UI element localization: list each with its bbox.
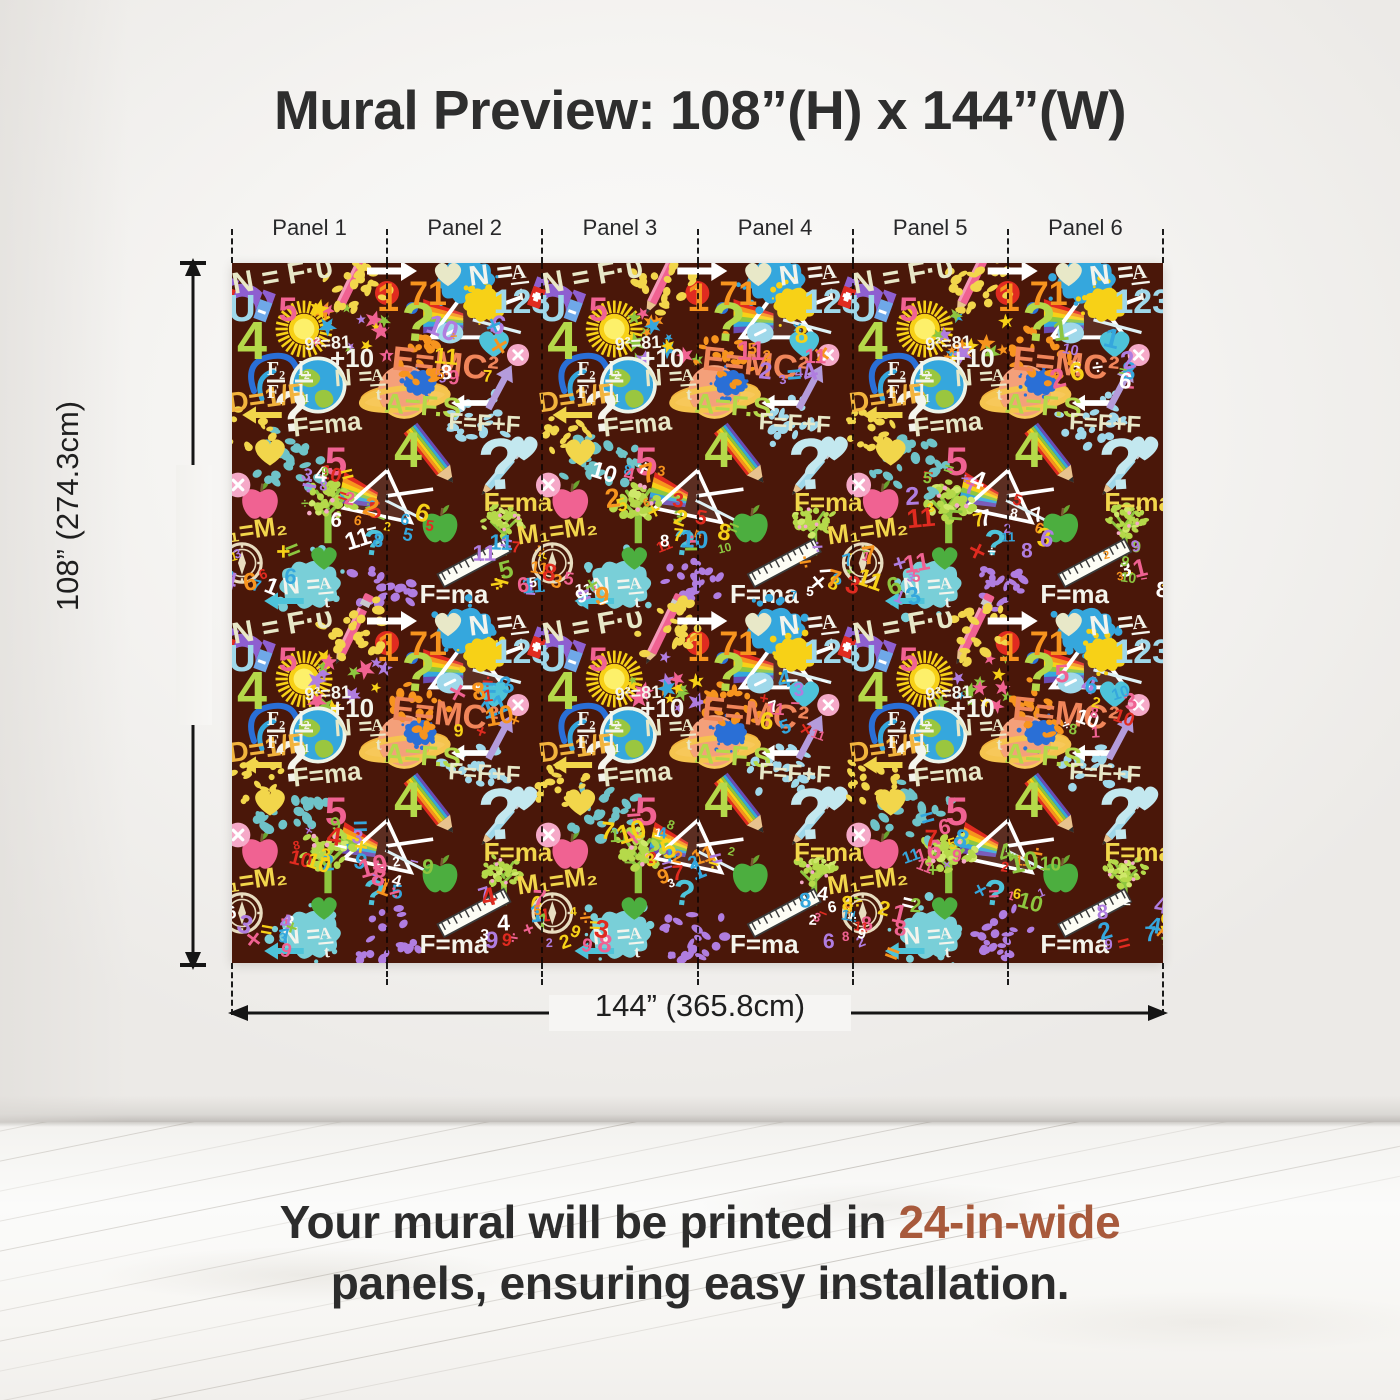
svg-text:7: 7 — [790, 590, 797, 602]
svg-text:F₂: F₂ — [267, 708, 285, 730]
svg-text:123: 123 — [1114, 283, 1163, 321]
panel-seam-3 — [697, 263, 699, 963]
svg-text:F₁: F₁ — [577, 381, 595, 403]
svg-text:8: 8 — [1021, 539, 1033, 562]
svg-text:F=ma: F=ma — [1104, 837, 1163, 867]
svg-text:11: 11 — [804, 345, 826, 369]
badge-pink — [846, 823, 871, 848]
svg-text:A: A — [1131, 611, 1149, 635]
number-u: U — [232, 638, 256, 680]
svg-text:=: = — [880, 939, 903, 963]
svg-text:A: A — [510, 611, 528, 635]
svg-text:l₁: l₁ — [919, 381, 931, 403]
svg-text:A: A — [939, 573, 953, 593]
width-dimension-label: 144” (365.8cm) — [0, 988, 1400, 1024]
panel-guide-bottom-2 — [541, 963, 543, 985]
svg-text:5: 5 — [899, 291, 918, 329]
svg-text:2: 2 — [727, 844, 737, 859]
number-71: 71 — [409, 275, 447, 313]
number-5: 5 — [899, 641, 918, 679]
svg-text:F₂: F₂ — [888, 708, 906, 730]
svg-text:A: A — [510, 263, 528, 284]
height-label-backdrop — [176, 465, 212, 725]
svg-text:−: − — [623, 851, 635, 873]
panel-guide-bottom-4 — [852, 963, 854, 985]
number-cluster: 39+3×3734=6+ — [232, 900, 301, 963]
svg-text:N =: N = — [902, 920, 942, 950]
formula-f-f-f: F=F+F — [448, 408, 521, 439]
panel-seam-5 — [1007, 263, 1009, 963]
svg-text:l₂: l₂ — [609, 358, 621, 380]
svg-text:7: 7 — [483, 367, 493, 386]
number-5: 5 — [279, 641, 298, 679]
caption-text: Your mural will be printed in 24-in-wide… — [0, 1192, 1400, 1313]
panel-guide-top-1 — [386, 229, 388, 263]
panel-label-5: Panel 5 — [853, 214, 1008, 242]
formula-m1-m2: M₁=M₂ — [232, 860, 289, 901]
svg-text:l₂: l₂ — [919, 708, 931, 730]
number-cluster: =×9×8=79244= — [1095, 892, 1163, 957]
formula-f-ma: F=ma — [291, 755, 363, 792]
svg-text:1: 1 — [1091, 724, 1101, 741]
svg-text:F₂: F₂ — [267, 358, 285, 380]
svg-text:10: 10 — [1039, 853, 1062, 876]
svg-text:M₁=M₂: M₁=M₂ — [232, 860, 289, 901]
number-4b: 4 — [394, 422, 422, 478]
svg-text:l₂: l₂ — [609, 708, 621, 730]
svg-text:F=ma: F=ma — [602, 405, 674, 442]
svg-text:123: 123 — [1114, 633, 1163, 671]
svg-text:=: = — [947, 499, 965, 530]
number-4b: 4 — [1015, 422, 1043, 478]
svg-text:÷: ÷ — [450, 329, 458, 343]
svg-text:F=ma: F=ma — [912, 755, 984, 792]
svg-text:A: A — [318, 573, 332, 593]
page-title: Mural Preview: 108”(H) x 144”(W) — [0, 78, 1400, 142]
formula-f-ma: F=ma — [602, 755, 674, 792]
formula-f-f-f: F=F+F — [1068, 408, 1141, 439]
svg-text:10: 10 — [716, 540, 733, 557]
svg-text:A: A — [629, 573, 643, 593]
formula-n-at3: N = — [902, 920, 942, 950]
panel-label-6: Panel 6 — [1008, 214, 1163, 242]
svg-text:l₁: l₁ — [298, 731, 310, 753]
svg-text:10: 10 — [483, 700, 516, 733]
formula-plus-10: +10 — [951, 693, 995, 723]
svg-text:10: 10 — [1015, 887, 1046, 918]
formula-f-f-f: F=F+F — [448, 758, 521, 789]
svg-text:F=ma: F=ma — [420, 929, 489, 959]
number-71: 71 — [719, 625, 757, 663]
panel-guide-bottom-3 — [697, 963, 699, 985]
svg-text:F=F+F: F=F+F — [448, 758, 521, 789]
panel-guide-top-2 — [541, 229, 543, 263]
formula-plus-10: +10 — [330, 343, 374, 373]
svg-text:11: 11 — [901, 547, 932, 579]
number-5: 5 — [589, 291, 608, 329]
svg-text:+10: +10 — [951, 343, 995, 373]
panel-seam-2 — [541, 263, 543, 963]
svg-text:l₂: l₂ — [298, 708, 310, 730]
svg-text:l₁: l₁ — [298, 381, 310, 403]
formula-f-ma: F=ma — [291, 405, 363, 442]
svg-text:11: 11 — [840, 907, 859, 926]
svg-text:+10: +10 — [640, 343, 684, 373]
badge-pink — [817, 694, 839, 716]
svg-text:F=ma: F=ma — [602, 755, 674, 792]
svg-text:5: 5 — [806, 584, 815, 600]
svg-text:71: 71 — [719, 275, 757, 313]
number-71: 71 — [1030, 275, 1068, 313]
svg-text:71: 71 — [409, 275, 447, 313]
svg-text:=: = — [1123, 896, 1131, 910]
svg-text:F₂: F₂ — [577, 708, 595, 730]
formula-f-ma3: F=ma — [420, 929, 489, 959]
svg-text:F=ma: F=ma — [1104, 487, 1163, 517]
svg-text:F₂: F₂ — [888, 358, 906, 380]
svg-text:5: 5 — [589, 641, 608, 679]
svg-text:F=ma: F=ma — [291, 755, 363, 792]
svg-text:3: 3 — [656, 463, 666, 480]
svg-text:71: 71 — [1030, 275, 1068, 313]
svg-text:6: 6 — [823, 930, 835, 953]
badge-pink — [536, 473, 561, 498]
svg-text:71: 71 — [1030, 625, 1068, 663]
caption-accent: 24-in-wide — [898, 1196, 1120, 1248]
svg-text:2: 2 — [904, 482, 920, 511]
svg-text:l₂: l₂ — [298, 358, 310, 380]
number-4b: 4 — [704, 772, 732, 828]
panel-guide-bottom-1 — [386, 963, 388, 985]
svg-text:4: 4 — [570, 904, 578, 918]
svg-text:5: 5 — [1054, 660, 1070, 689]
badge-pink — [846, 473, 871, 498]
formula-f-ma3: F=ma — [420, 579, 489, 609]
svg-text:A: A — [820, 611, 838, 635]
svg-text:F₁: F₁ — [577, 731, 595, 753]
panel-guide-bottom-5 — [1007, 963, 1009, 985]
panel-label-3: Panel 3 — [542, 214, 697, 242]
svg-text:U: U — [232, 288, 256, 330]
svg-text:8: 8 — [841, 929, 850, 945]
height-dimension-label: 108” (274.3cm) — [50, 311, 86, 701]
svg-text:+10: +10 — [330, 343, 374, 373]
svg-text:6: 6 — [284, 563, 298, 589]
svg-text:÷: ÷ — [811, 536, 823, 559]
svg-text:l₁: l₁ — [609, 731, 621, 753]
number-5: 5 — [279, 291, 298, 329]
mural-preview-image[interactable]: ????N = F·υE=MC²D=1/FA=F.SF=maN =At123N … — [232, 263, 1163, 963]
svg-text:6: 6 — [329, 508, 343, 532]
svg-text:−: − — [790, 694, 800, 713]
panel-guide-top-3 — [697, 229, 699, 263]
svg-text:F=ma: F=ma — [730, 579, 799, 609]
svg-text:F=ma: F=ma — [912, 405, 984, 442]
svg-text:4: 4 — [1015, 772, 1043, 828]
svg-text:2: 2 — [603, 482, 622, 514]
formula-f-ma3: F=ma — [730, 929, 799, 959]
number-123: 123 — [1114, 283, 1163, 321]
number-4b: 4 — [394, 772, 422, 828]
formula-plus-10: +10 — [330, 693, 374, 723]
number-5: 5 — [899, 291, 918, 329]
svg-text:U: U — [232, 638, 256, 680]
svg-text:=: = — [988, 883, 1000, 905]
svg-text:10: 10 — [1120, 568, 1138, 586]
formula-f-f-f: F=F+F — [758, 758, 831, 789]
svg-text:A: A — [318, 923, 332, 943]
svg-text:4: 4 — [394, 772, 422, 828]
svg-text:=: = — [786, 360, 803, 389]
svg-text:5: 5 — [279, 641, 298, 679]
svg-text:10: 10 — [680, 526, 709, 554]
formula-f-f-f: F=F+F — [758, 408, 831, 439]
svg-text:−: − — [786, 669, 799, 693]
formula-f-ma2: F=ma — [1104, 837, 1163, 867]
panel-label-2: Panel 2 — [387, 214, 542, 242]
formula-f-ma: F=ma — [912, 405, 984, 442]
svg-text:8: 8 — [893, 915, 907, 941]
svg-text:÷: ÷ — [578, 906, 592, 930]
svg-text:l₁: l₁ — [609, 381, 621, 403]
panel-label-1: Panel 1 — [232, 214, 387, 242]
panel-guide-top-6 — [1162, 229, 1164, 263]
svg-text:÷: ÷ — [987, 543, 996, 560]
svg-text:4: 4 — [704, 422, 732, 478]
svg-text:l₁: l₁ — [919, 731, 931, 753]
svg-text:8: 8 — [660, 531, 670, 550]
formula-plus-10: +10 — [640, 343, 684, 373]
svg-text:71: 71 — [719, 625, 757, 663]
number-5: 5 — [589, 641, 608, 679]
svg-text:10: 10 — [1006, 844, 1041, 880]
number-123: 123 — [1114, 633, 1163, 671]
svg-text:1: 1 — [1160, 573, 1163, 591]
svg-text:F=F+F: F=F+F — [1068, 758, 1141, 789]
badge-pink — [536, 823, 561, 848]
svg-text:5: 5 — [899, 641, 918, 679]
number-4b: 4 — [704, 422, 732, 478]
formula-f-ma3: F=ma — [730, 579, 799, 609]
number-u: U — [232, 288, 256, 330]
svg-text:4: 4 — [704, 772, 732, 828]
svg-text:A: A — [1131, 263, 1149, 284]
panel-guide-top-4 — [852, 229, 854, 263]
panel-guide-top-5 — [1007, 229, 1009, 263]
svg-text:2: 2 — [909, 895, 921, 918]
svg-text:9: 9 — [453, 720, 464, 740]
svg-text:F=F+F: F=F+F — [1068, 408, 1141, 439]
svg-text:9: 9 — [501, 929, 513, 950]
formula-f-ma: F=ma — [602, 405, 674, 442]
svg-text:+10: +10 — [330, 693, 374, 723]
number-71: 71 — [1030, 625, 1068, 663]
svg-text:11: 11 — [433, 342, 460, 370]
svg-text:F=F+F: F=F+F — [758, 758, 831, 789]
svg-text:=: = — [1115, 929, 1133, 956]
formula-f-ma3: F=ma — [1040, 579, 1109, 609]
formula-plus-10: +10 — [951, 343, 995, 373]
svg-text:F₂: F₂ — [577, 358, 595, 380]
svg-text:4: 4 — [1015, 422, 1043, 478]
svg-text:F=ma: F=ma — [420, 579, 489, 609]
formula-plus-10: +10 — [640, 693, 684, 723]
svg-text:4: 4 — [394, 422, 422, 478]
svg-text:F=F+F: F=F+F — [448, 408, 521, 439]
svg-text:2: 2 — [546, 936, 553, 950]
svg-text:F=ma: F=ma — [1040, 579, 1109, 609]
svg-text:F=ma: F=ma — [291, 405, 363, 442]
panel-guide-top-0 — [231, 229, 233, 263]
svg-text:8: 8 — [665, 817, 677, 834]
svg-text:F₁: F₁ — [888, 731, 906, 753]
svg-text:+10: +10 — [951, 693, 995, 723]
svg-text:A: A — [629, 923, 643, 943]
svg-text:11: 11 — [472, 541, 496, 566]
formula-f-ma: F=ma — [912, 755, 984, 792]
formula-f-f-f: F=F+F — [1068, 758, 1141, 789]
svg-text:6: 6 — [242, 567, 259, 597]
caption-line2: panels, ensuring easy installation. — [331, 1257, 1070, 1309]
panel-seam-4 — [852, 263, 854, 963]
number-4b: 4 — [1015, 772, 1043, 828]
floor-top-edge — [0, 1122, 1400, 1127]
svg-text:5: 5 — [279, 291, 298, 329]
number-71: 71 — [719, 275, 757, 313]
svg-text:A: A — [939, 923, 953, 943]
apple — [733, 855, 768, 893]
number-71: 71 — [409, 625, 447, 663]
panel-label-4: Panel 4 — [698, 214, 853, 242]
svg-text:6: 6 — [232, 901, 238, 923]
svg-text:l₂: l₂ — [919, 358, 931, 380]
svg-text:71: 71 — [409, 625, 447, 663]
badge-pink — [507, 344, 529, 366]
svg-text:F=ma: F=ma — [730, 929, 799, 959]
panel-seam-1 — [386, 263, 388, 963]
formula-f-ma2: F=ma — [1104, 487, 1163, 517]
svg-text:5: 5 — [747, 340, 758, 358]
svg-text:5: 5 — [589, 291, 608, 329]
svg-text:F₁: F₁ — [267, 731, 285, 753]
svg-text:F=F+F: F=F+F — [758, 408, 831, 439]
wall-floor-shadow — [0, 1096, 1400, 1122]
svg-text:F₁: F₁ — [888, 381, 906, 403]
svg-text:F₁: F₁ — [267, 381, 285, 403]
svg-text:A: A — [820, 263, 838, 284]
svg-text:+10: +10 — [640, 693, 684, 723]
dot-cluster — [343, 900, 425, 963]
caption-line1-before: Your mural will be printed in — [280, 1196, 899, 1248]
